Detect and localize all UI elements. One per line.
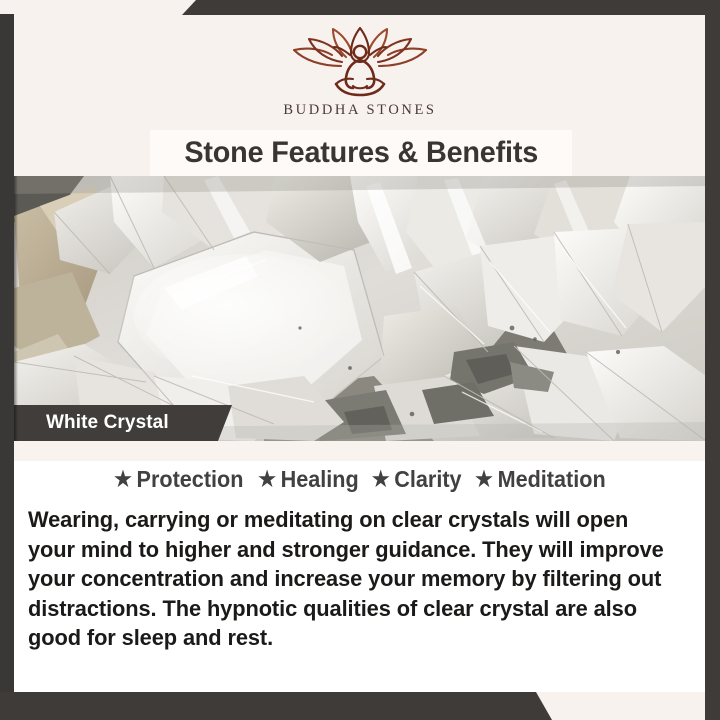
star-icon: ★ [475,469,493,490]
panel-divider-strip [14,441,706,461]
brand-name: BUDDHA STONES [0,102,720,119]
stone-name-tag: White Crystal [14,405,232,441]
star-icon: ★ [371,469,389,490]
star-icon: ★ [258,469,276,490]
benefit-item: ★ Meditation [475,466,605,493]
stone-info-card: BUDDHA STONES Stone Features & Benefits [0,0,720,720]
stone-description: Wearing, carrying or meditating on clear… [28,505,676,653]
stone-name-label: White Crystal [46,412,169,434]
frame-right-border [705,0,720,720]
benefits-row: ★ Protection ★ Healing ★ Clarity ★ Medit… [14,466,706,493]
benefit-label: Healing [280,466,358,493]
lotus-meditation-icon [284,22,436,100]
page-title: Stone Features & Benefits [184,136,538,170]
benefit-item: ★ Healing [258,466,358,493]
benefit-item: ★ Clarity [371,466,461,493]
white-crystal-cluster-photo [14,176,706,441]
star-icon: ★ [114,469,132,490]
benefit-label: Meditation [498,466,606,493]
photo-left-shadow [14,176,18,441]
benefit-label: Protection [137,466,244,493]
frame-left-border [0,14,14,720]
benefit-label: Clarity [394,466,461,493]
frame-bottom-border [0,692,720,720]
benefit-item: ★ Protection [114,466,243,493]
title-banner: Stone Features & Benefits [150,130,572,176]
brand-logo: BUDDHA STONES [0,22,720,119]
